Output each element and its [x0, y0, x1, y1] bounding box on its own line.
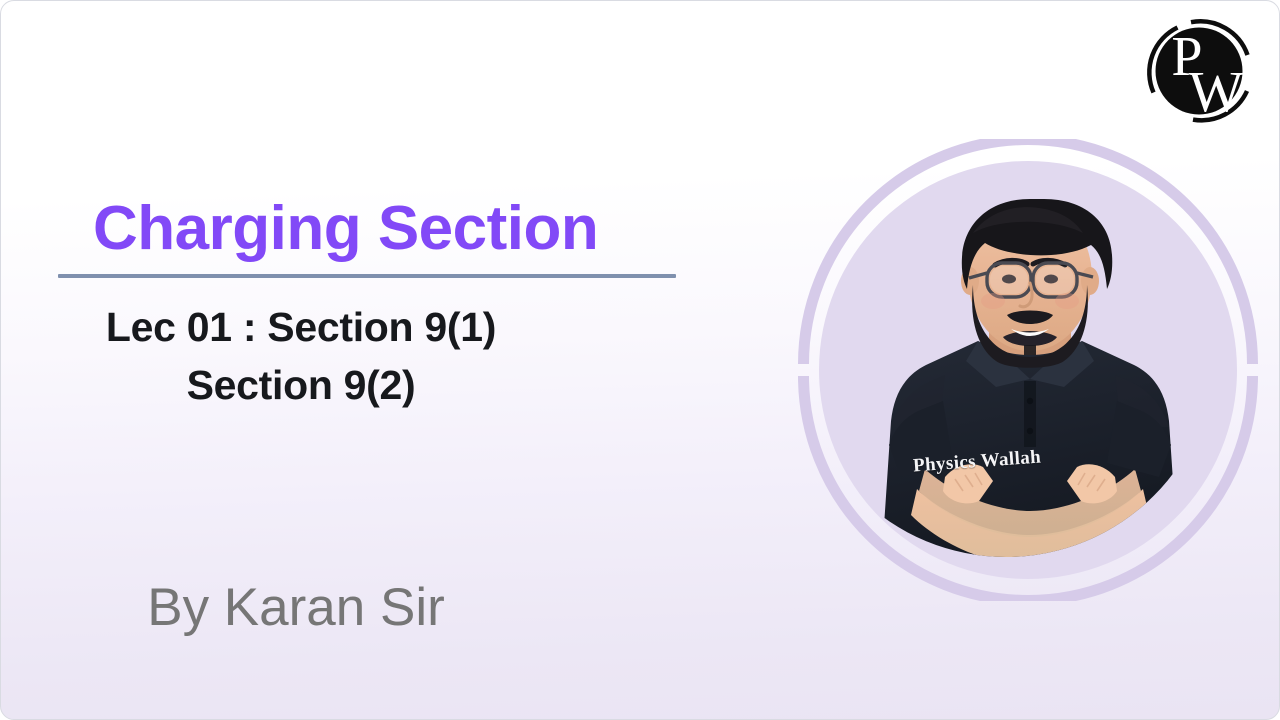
lecture-title-slide: P W Charging Section Lec 01 : Section 9(…	[0, 0, 1280, 720]
svg-text:W: W	[1189, 59, 1244, 124]
instructor-badge: Physics Wallah	[797, 139, 1259, 601]
pw-logo: P W	[1133, 5, 1265, 137]
slide-title: Charging Section	[1, 197, 721, 260]
presenter-credit: By Karan Sir	[1, 579, 721, 637]
slide-text-block: Charging Section Lec 01 : Section 9(1) S…	[1, 197, 721, 414]
slide-subtitle-line-2: Section 9(2)	[1, 358, 721, 414]
title-underline-rule	[58, 274, 676, 278]
slide-subtitle-line-1: Lec 01 : Section 9(1)	[1, 300, 721, 356]
